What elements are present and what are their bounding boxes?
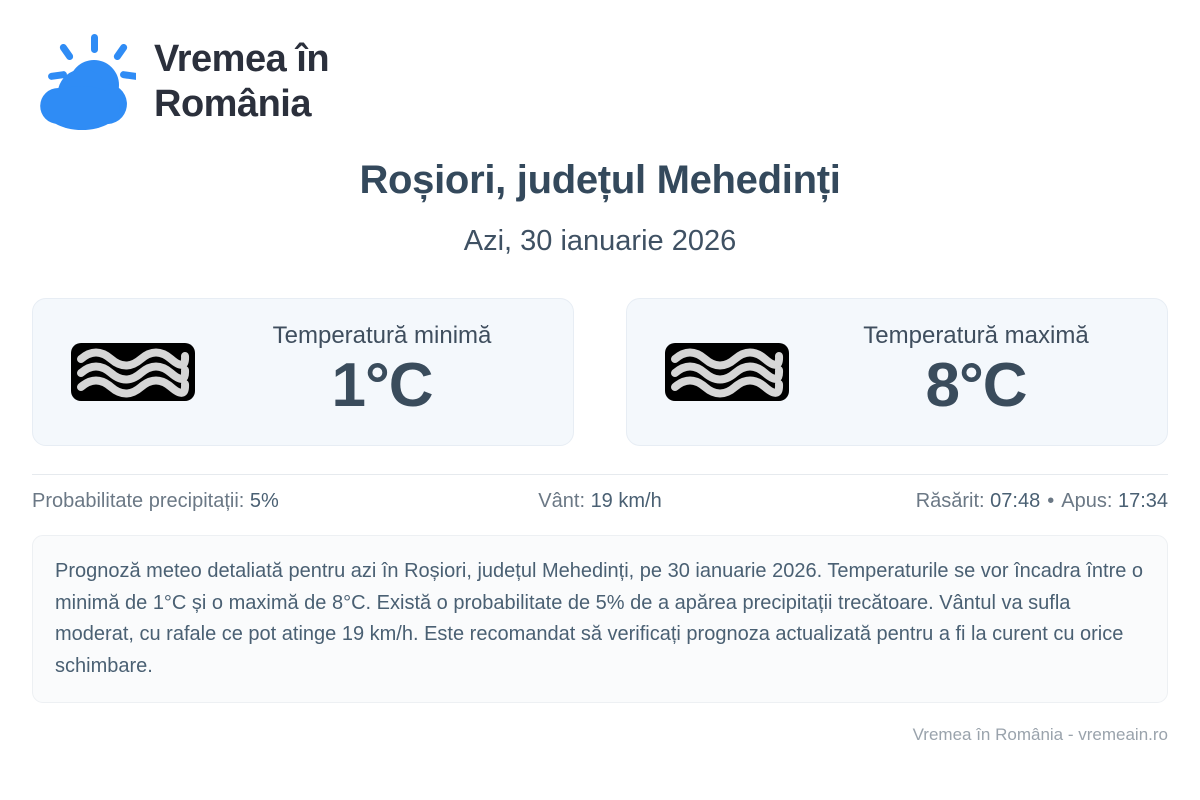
- heat-wave-icon: [661, 333, 793, 411]
- stat-sunrise-value: 07:48: [990, 490, 1040, 512]
- page-footer: Vremea în România - vremeain.ro: [32, 725, 1168, 745]
- brand-name-line1: Vremea în: [154, 37, 329, 82]
- stat-precipitation-label: Probabilitate precipitații:: [32, 490, 250, 512]
- brand-name-line2: România: [154, 82, 329, 127]
- card-max-body: Temperatură maximă 8°C: [819, 323, 1133, 421]
- card-min-value: 1°C: [331, 351, 432, 420]
- card-temperature-max: Temperatură maximă 8°C: [626, 298, 1168, 446]
- weather-page: Vremea în România Roșiori, județul Mehed…: [0, 0, 1200, 800]
- brand-header: Vremea în România: [32, 0, 1168, 116]
- stat-precipitation: Probabilitate precipitații: 5%: [32, 490, 411, 513]
- stat-sunset-value: 17:34: [1118, 490, 1168, 512]
- stat-wind: Vânt: 19 km/h: [411, 490, 790, 513]
- stat-separator: •: [1040, 490, 1061, 512]
- brand-name: Vremea în România: [154, 37, 329, 127]
- forecast-description: Prognoză meteo detaliată pentru azi în R…: [32, 535, 1168, 703]
- stat-sunset-label: Apus:: [1061, 490, 1118, 512]
- heat-wave-icon: [67, 333, 199, 411]
- stats-row: Probabilitate precipitații: 5% Vânt: 19 …: [32, 475, 1168, 527]
- stat-wind-value: 19 km/h: [591, 490, 662, 512]
- card-min-label: Temperatură minimă: [273, 323, 492, 349]
- stat-sunrise-label: Răsărit:: [916, 490, 990, 512]
- page-title: Roșiori, județul Mehedinți: [32, 158, 1168, 203]
- card-min-body: Temperatură minimă 1°C: [225, 323, 539, 421]
- stat-wind-label: Vânt:: [538, 490, 590, 512]
- card-max-label: Temperatură maximă: [863, 323, 1088, 349]
- page-subtitle: Azi, 30 ianuarie 2026: [32, 225, 1168, 258]
- sun-behind-cloud-icon: [32, 32, 136, 132]
- card-temperature-min: Temperatură minimă 1°C: [32, 298, 574, 446]
- stat-sun: Răsărit: 07:48•Apus: 17:34: [789, 490, 1168, 513]
- card-max-value: 8°C: [925, 351, 1026, 420]
- temperature-cards: Temperatură minimă 1°C Temperatură maxim…: [32, 298, 1168, 446]
- stat-precipitation-value: 5%: [250, 490, 279, 512]
